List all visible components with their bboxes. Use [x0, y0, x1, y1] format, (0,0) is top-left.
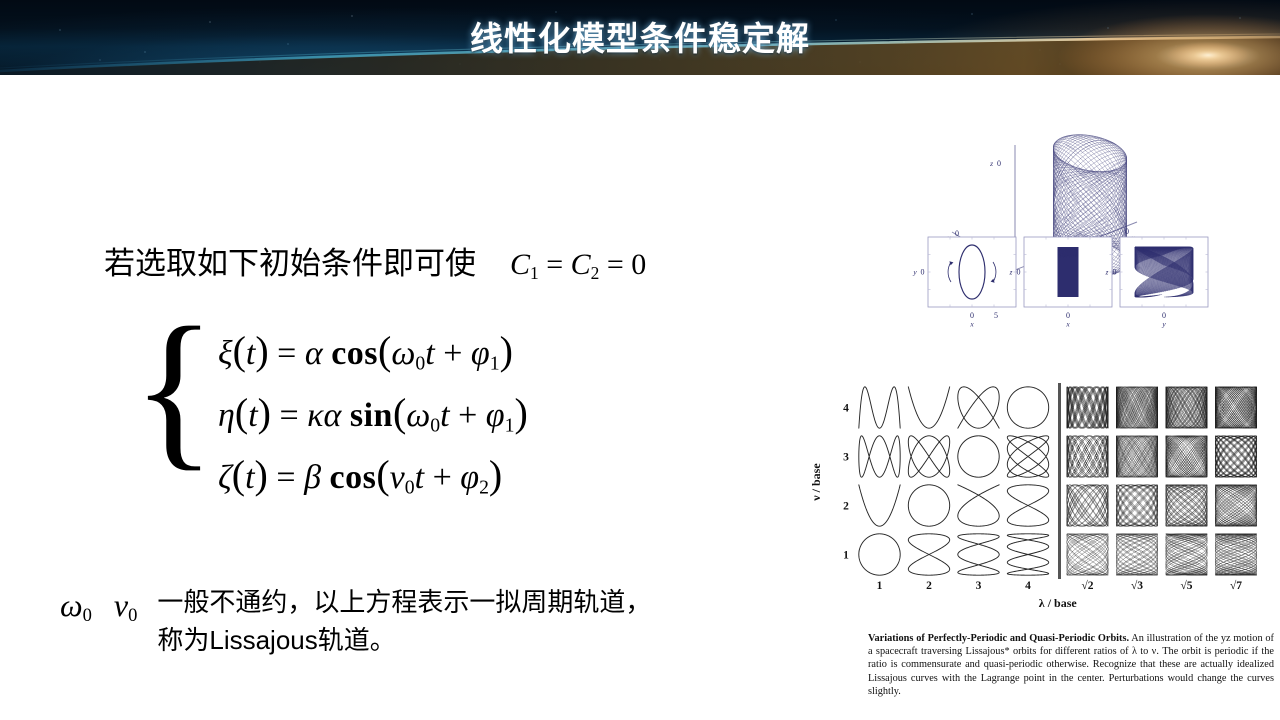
note-line-1: 一般不通约，以上方程表示一拟周期轨道， — [157, 583, 651, 621]
note-symbols: ω0ν0 — [60, 583, 137, 659]
svg-text:1: 1 — [877, 580, 883, 592]
svg-text:1: 1 — [843, 550, 849, 562]
svg-text:√3: √3 — [1131, 579, 1143, 592]
intro-text: 若选取如下初始条件即可使 — [104, 246, 476, 281]
equation-system: { ξ(t) = α cos(ω0t + φ1) η(t) = κα sin(ω… — [132, 321, 528, 503]
svg-text:5: 5 — [994, 311, 998, 320]
svg-text:2: 2 — [843, 501, 849, 513]
svg-text:y: y — [1161, 320, 1166, 329]
figure-lissajous-grid: 12341234√2√3√5√7ν / baseλ / base — [808, 378, 1273, 618]
equation-rows: ξ(t) = α cos(ω0t + φ1) η(t) = κα sin(ω0t… — [218, 321, 528, 503]
svg-text:2: 2 — [926, 580, 932, 592]
intro-equation: C1 = C2 = 0 — [510, 248, 646, 281]
svg-text:√7: √7 — [1230, 579, 1242, 592]
note-line-2: 称为Lissajous轨道。 — [157, 621, 651, 659]
svg-text:0: 0 — [1113, 268, 1117, 277]
svg-text:x: x — [1065, 320, 1070, 329]
svg-text:x: x — [969, 320, 974, 329]
svg-text:λ / base: λ / base — [1039, 596, 1078, 610]
caption-lead: Variations of Perfectly-Periodic and Qua… — [868, 633, 1129, 644]
page-title: 线性化模型条件稳定解 — [0, 12, 1280, 60]
svg-text:0: 0 — [1017, 268, 1021, 277]
svg-text:0: 0 — [921, 268, 925, 277]
figure-lissajous-3d: z0y00xy005xz00xz00y — [900, 85, 1230, 335]
intro-line: 若选取如下初始条件即可使C1 = C2 = 0 — [104, 238, 646, 284]
svg-text:√2: √2 — [1081, 579, 1093, 592]
figure-caption: Variations of Perfectly-Periodic and Qua… — [868, 632, 1274, 698]
equation-row-zeta: ζ(t) = β cos(ν0t + φ2) — [218, 447, 528, 503]
note-text: 一般不通约，以上方程表示一拟周期轨道， 称为Lissajous轨道。 — [157, 583, 651, 659]
svg-text:0: 0 — [997, 159, 1001, 168]
svg-text:z: z — [989, 159, 993, 168]
slide-body-left: 若选取如下初始条件即可使C1 = C2 = 0 { ξ(t) = α cos(ω… — [0, 75, 830, 720]
svg-text:y: y — [912, 268, 917, 277]
equation-row-eta: η(t) = κα sin(ω0t + φ1) — [218, 385, 528, 441]
svg-text:z: z — [1009, 268, 1013, 277]
svg-text:ν / base: ν / base — [809, 463, 823, 502]
svg-text:3: 3 — [843, 452, 849, 464]
system-brace: { — [132, 307, 216, 503]
svg-text:√5: √5 — [1180, 579, 1192, 592]
svg-text:4: 4 — [843, 403, 849, 415]
svg-text:3: 3 — [976, 580, 982, 592]
title-banner: 线性化模型条件稳定解 — [0, 0, 1280, 75]
note-block: ω0ν0 一般不通约，以上方程表示一拟周期轨道， 称为Lissajous轨道。 — [60, 583, 800, 659]
equation-row-xi: ξ(t) = α cos(ω0t + φ1) — [218, 323, 528, 379]
svg-text:4: 4 — [1025, 580, 1031, 592]
svg-text:z: z — [1105, 268, 1109, 277]
